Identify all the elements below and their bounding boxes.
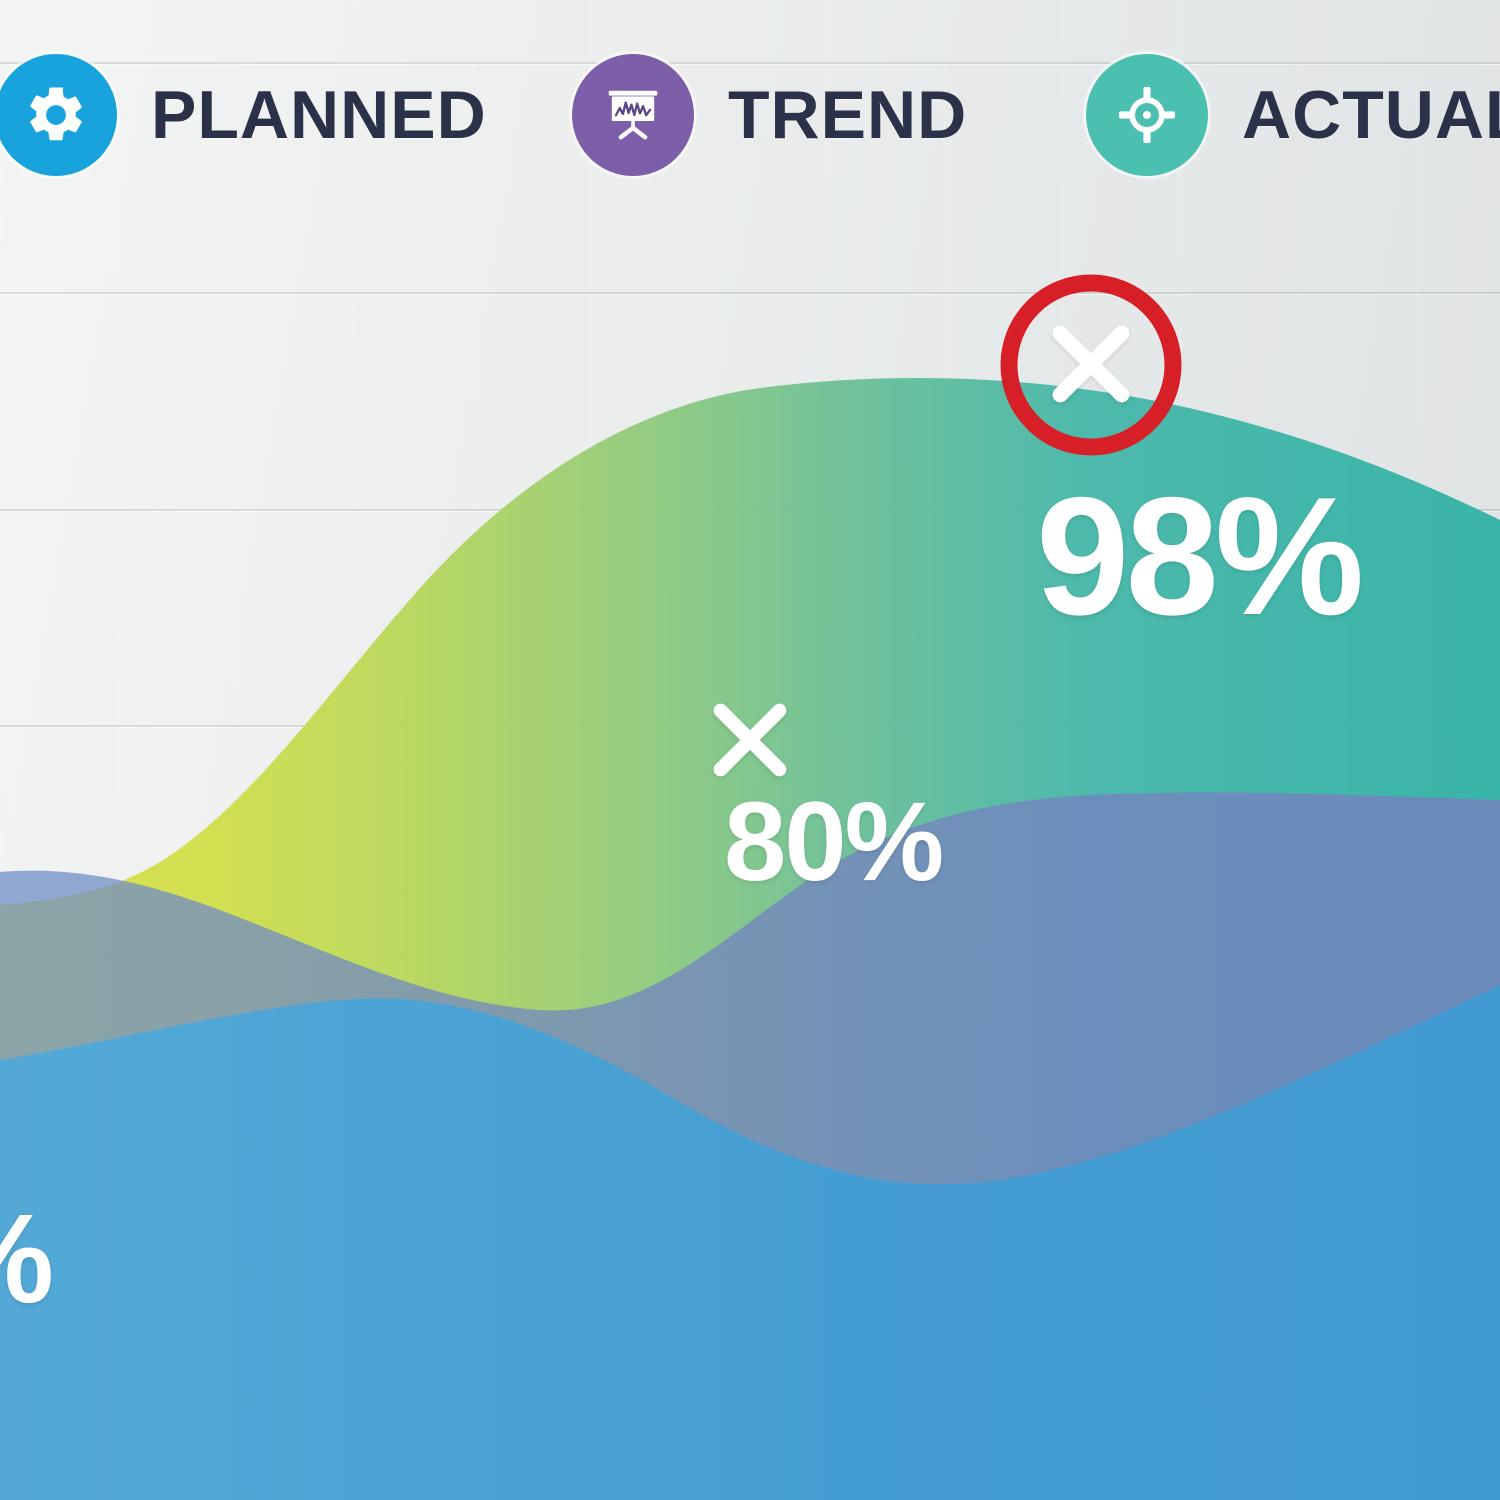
actual-badge — [1086, 54, 1208, 176]
x-marker-icon — [704, 694, 796, 786]
legend-label-actual: ACTUAL — [1242, 76, 1500, 154]
x-marker-wrap — [1043, 316, 1139, 412]
presentation-chart-icon — [602, 84, 664, 146]
legend: PLANNED TREND — [0, 0, 1500, 232]
marker-value-actual: 98% — [1036, 472, 1360, 640]
legend-label-planned: PLANNED — [151, 76, 487, 154]
chart-canvas: PLANNED TREND — [0, 0, 1500, 1500]
legend-item-trend[interactable]: TREND — [572, 54, 967, 176]
gear-icon — [23, 82, 89, 148]
crosshair-target-icon — [1114, 82, 1180, 148]
legend-item-actual[interactable]: ACTUAL — [1086, 54, 1500, 176]
marker-value-planned: % — [0, 1196, 52, 1322]
legend-label-trend: TREND — [728, 76, 967, 154]
x-marker-icon — [1043, 316, 1139, 412]
planned-badge — [0, 54, 117, 176]
marker-value-trend: 80% — [724, 786, 942, 898]
x-marker-wrap — [704, 694, 796, 786]
trend-badge — [572, 54, 694, 176]
legend-item-planned[interactable]: PLANNED — [0, 54, 487, 176]
